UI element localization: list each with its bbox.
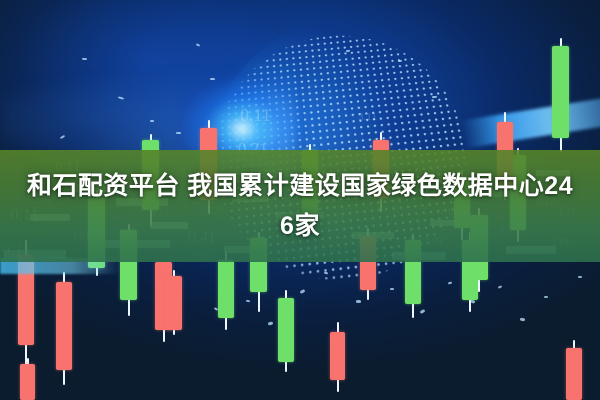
headline-line-2: 6家 <box>270 206 330 246</box>
headline-block: 和石配资平台 我国累计建设国家绿色数据中心24 6家 <box>0 150 600 262</box>
floating-number: 3.11 <box>358 112 377 123</box>
headline-line-1: 和石配资平台 我国累计建设国家绿色数据中心24 <box>0 166 600 206</box>
banner-image: 0.110.110.111.011.010.211.011.010.110.21… <box>0 0 600 400</box>
floating-number: 0.11 <box>240 106 271 124</box>
